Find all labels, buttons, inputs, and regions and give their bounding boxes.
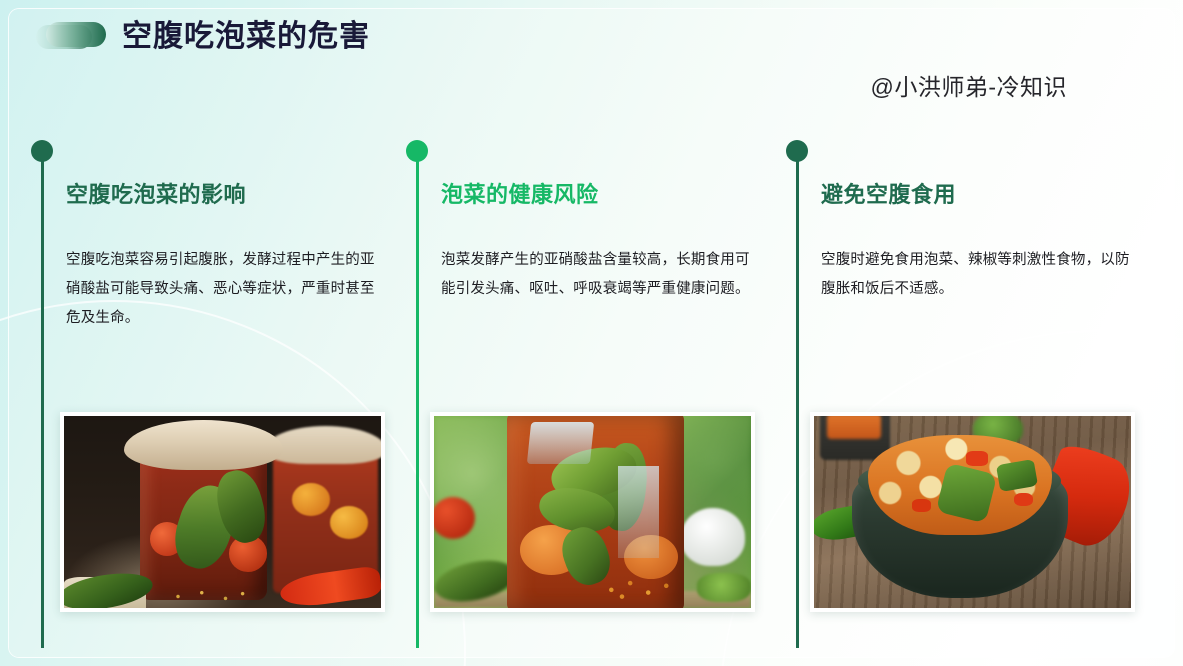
pickle-jar-closeup-photo	[434, 416, 751, 608]
column-3-photo-frame	[810, 412, 1135, 612]
column-1-photo-frame	[60, 412, 385, 612]
column-2-marker-line	[416, 160, 419, 648]
column-1-text: 空腹吃泡菜容易引起腹胀，发酵过程中产生的亚硝酸盐可能导致头痛、恶心等症状，严重时…	[66, 246, 376, 333]
title-badge-icon	[36, 22, 106, 52]
column-2-text: 泡菜发酵产生的亚硝酸盐含量较高，长期食用可能引发头痛、呕吐、呼吸衰竭等严重健康问…	[441, 246, 751, 304]
badge-pill-front	[46, 22, 106, 47]
column-3-body: 避免空腹食用 空腹时避免食用泡菜、辣椒等刺激性食物，以防腹胀和饭后不适感。	[821, 182, 1131, 304]
column-2-marker-dot	[406, 140, 428, 162]
pickle-jars-photo	[64, 416, 381, 608]
column-1-marker-line	[41, 160, 44, 648]
slide-canvas: 空腹吃泡菜的危害 @小洪师弟-冷知识 空腹吃泡菜的影响 空腹吃泡菜容易引起腹胀，…	[0, 0, 1183, 666]
attribution-handle: @小洪师弟-冷知识	[870, 68, 1067, 102]
column-3-text: 空腹时避免食用泡菜、辣椒等刺激性食物，以防腹胀和饭后不适感。	[821, 246, 1131, 304]
column-3-heading: 避免空腹食用	[821, 182, 1131, 208]
column-1-heading: 空腹吃泡菜的影响	[66, 182, 376, 208]
columns-container: 空腹吃泡菜的影响 空腹吃泡菜容易引起腹胀，发酵过程中产生的亚硝酸盐可能导致头痛、…	[0, 140, 1183, 660]
page-title: 空腹吃泡菜的危害	[122, 22, 370, 52]
kimchi-bowl-photo	[814, 416, 1131, 608]
column-2-heading: 泡菜的健康风险	[441, 182, 751, 208]
column-2-body: 泡菜的健康风险 泡菜发酵产生的亚硝酸盐含量较高，长期食用可能引发头痛、呕吐、呼吸…	[441, 182, 751, 304]
slide-header: 空腹吃泡菜的危害	[36, 22, 370, 52]
column-1-marker-dot	[31, 140, 53, 162]
column-1-body: 空腹吃泡菜的影响 空腹吃泡菜容易引起腹胀，发酵过程中产生的亚硝酸盐可能导致头痛、…	[66, 182, 376, 333]
column-3-marker-dot	[786, 140, 808, 162]
column-3-marker-line	[796, 160, 799, 648]
column-2-photo-frame	[430, 412, 755, 612]
